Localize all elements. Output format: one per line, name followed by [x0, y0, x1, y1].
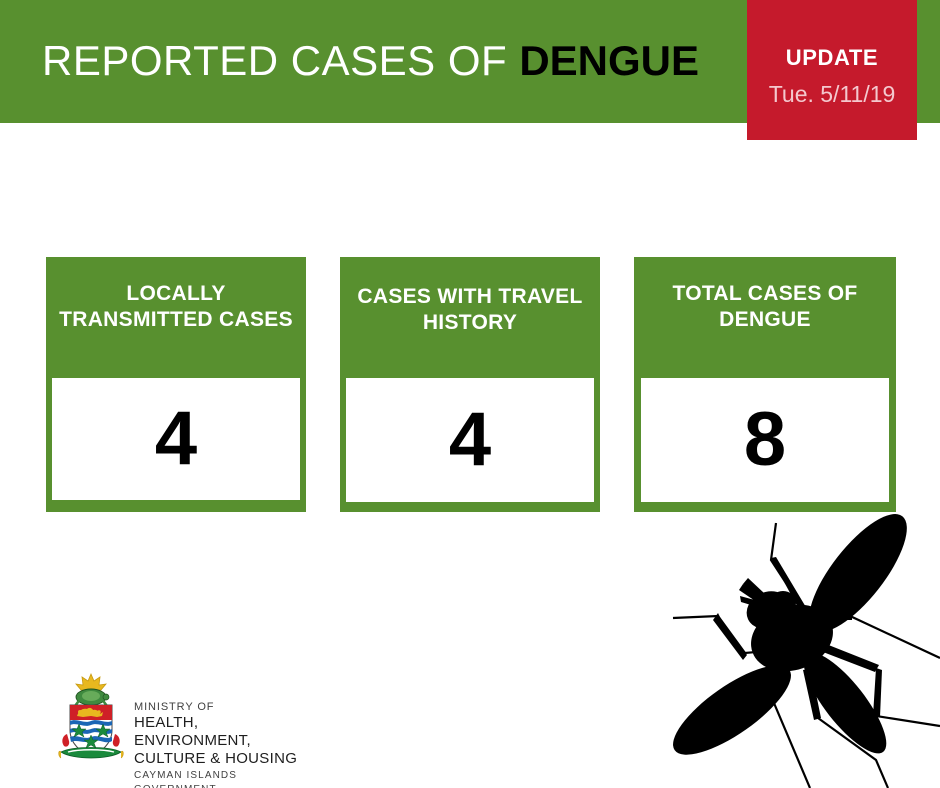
ministry-logo: MINISTRY OF HEALTH, ENVIRONMENT, CULTURE… [46, 672, 306, 768]
mosquito-icon [640, 498, 940, 788]
stat-card-value: 4 [155, 401, 197, 477]
ministry-line-4: CAYMAN ISLANDS GOVERNMENT [134, 769, 306, 788]
ministry-line-1: MINISTRY OF [134, 700, 306, 714]
page-title: REPORTED CASES OF DENGUE [42, 36, 699, 86]
dengue-infographic: REPORTED CASES OF DENGUE UPDATE Tue. 5/1… [0, 0, 940, 788]
stat-card-travel-history: CASES WITH TRAVEL HISTORY 4 [340, 257, 600, 512]
ministry-line-2: HEALTH, ENVIRONMENT, [134, 714, 306, 750]
update-date: Tue. 5/11/19 [747, 81, 917, 108]
stat-card-title: TOTAL CASES OF DENGUE [634, 281, 896, 333]
update-label: UPDATE [747, 45, 917, 71]
ministry-line-3: CULTURE & HOUSING [134, 750, 306, 768]
stat-card-value-box: 4 [346, 378, 594, 502]
page-title-bold: DENGUE [519, 37, 699, 84]
page-title-light: REPORTED CASES OF [42, 37, 519, 84]
stat-card-total-cases: TOTAL CASES OF DENGUE 8 [634, 257, 896, 512]
update-badge: UPDATE Tue. 5/11/19 [747, 0, 917, 140]
stat-card-value-box: 8 [641, 378, 889, 502]
stat-card-locally-transmitted: LOCALLY TRANSMITTED CASES 4 [46, 257, 306, 512]
stat-card-value: 4 [449, 402, 491, 478]
cayman-coat-of-arms-icon [55, 672, 127, 764]
stat-card-title: CASES WITH TRAVEL HISTORY [340, 284, 600, 336]
stat-card-value: 8 [744, 402, 786, 478]
stat-card-value-box: 4 [52, 378, 300, 500]
ministry-logo-text: MINISTRY OF HEALTH, ENVIRONMENT, CULTURE… [134, 700, 306, 788]
stat-card-title: LOCALLY TRANSMITTED CASES [46, 281, 306, 333]
